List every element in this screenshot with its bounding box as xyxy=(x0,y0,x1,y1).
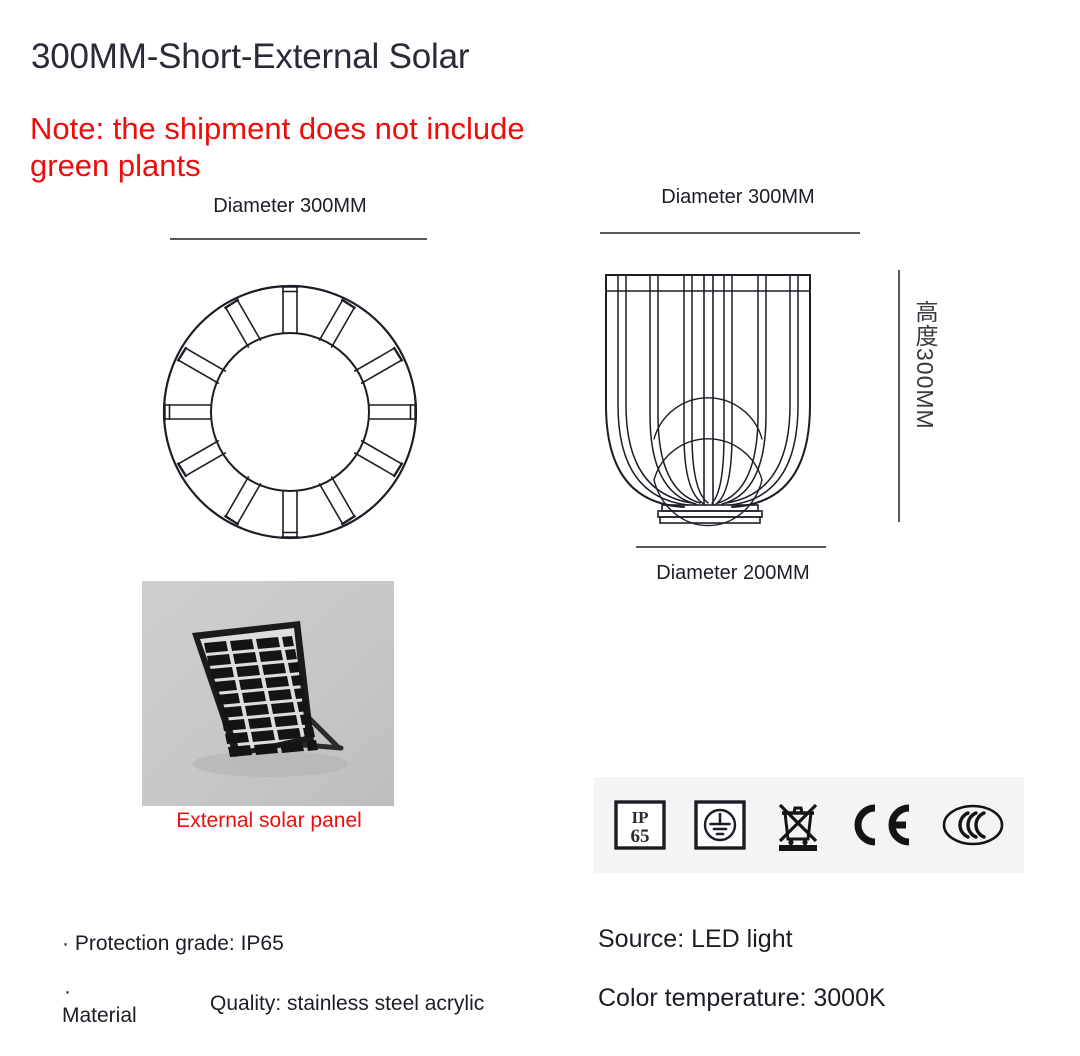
protective-earth-icon xyxy=(693,799,747,851)
solar-panel-photo xyxy=(142,581,394,806)
solar-panel-icon xyxy=(142,581,394,806)
ring-top-view-icon xyxy=(145,267,435,557)
height-dimension-line xyxy=(898,270,900,522)
solar-panel-caption: External solar panel xyxy=(140,809,398,833)
shipment-note: Note: the shipment does not include gree… xyxy=(30,110,550,184)
spec-color-temperature: Color temperature: 3000K xyxy=(598,984,886,1013)
height-label: 高度300MM xyxy=(908,300,942,430)
svg-text:65: 65 xyxy=(631,826,650,847)
height-dimension: 高度300MM xyxy=(888,270,988,530)
solar-panel-block: External solar panel xyxy=(142,581,394,856)
svg-text:IP: IP xyxy=(632,808,649,827)
top-view-diagram: Diameter 300MM xyxy=(140,195,440,535)
top-view-dimension-line xyxy=(170,238,427,240)
ccc-mark-icon xyxy=(941,800,1005,850)
weee-icon xyxy=(773,797,823,853)
top-view-caption: Diameter 300MM xyxy=(140,195,440,218)
ce-mark-icon xyxy=(849,800,915,850)
side-view-bottom-caption: Diameter 200MM xyxy=(588,562,878,585)
ip65-icon: IP 65 xyxy=(613,799,667,851)
side-view-top-caption: Diameter 300MM xyxy=(598,186,878,209)
side-view-diagram: Diameter 300MM xyxy=(588,180,988,600)
spec-light-source: Source: LED light xyxy=(598,925,793,954)
certification-strip: IP 65 xyxy=(594,777,1024,873)
basket-side-view-icon xyxy=(588,255,888,555)
spec-protection-grade: · Protection grade: IP65 xyxy=(62,930,284,958)
product-spec-sheet: 300MM-Short-External Solar Note: the shi… xyxy=(0,0,1080,1056)
spec-material-bullet: · xyxy=(64,980,71,1004)
spec-material-label: Material xyxy=(62,1004,137,1028)
page-title: 300MM-Short-External Solar xyxy=(31,36,469,78)
side-view-top-dimension-line xyxy=(600,232,860,234)
side-view-bottom-dimension-line xyxy=(636,546,826,548)
spec-material-value: Quality: stainless steel acrylic xyxy=(210,992,484,1016)
